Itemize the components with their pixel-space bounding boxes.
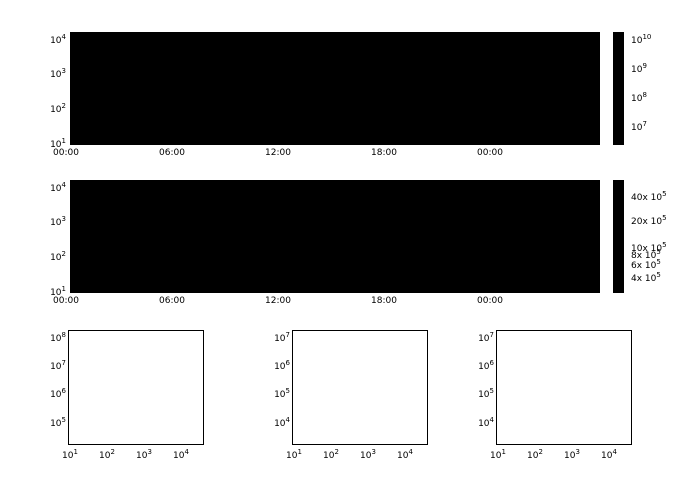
- s2-xtick-10e3: 103: [360, 448, 376, 461]
- top-xtick-0000a: 00:00: [53, 148, 79, 158]
- mid-xtick-0000b: 00:00: [477, 296, 503, 306]
- s3-xtick-10e4: 104: [601, 448, 617, 461]
- top-ytick-10e3: 103: [36, 67, 66, 80]
- s2-xtick-10e2: 102: [323, 448, 339, 461]
- spectrum-left-plot-area[interactable]: [68, 330, 204, 445]
- s1-xtick-10e4: 104: [173, 448, 189, 461]
- s2-ytick-10e7: 107: [260, 331, 290, 344]
- spectrum-right-plot-area[interactable]: [496, 330, 632, 445]
- mid-cbtick-6e5: 6x 105: [631, 258, 661, 271]
- mid-cbtick-4e5: 4x 105: [631, 271, 661, 284]
- s2-ytick-10e4: 104: [260, 416, 290, 429]
- s2-ytick-10e6: 106: [260, 359, 290, 372]
- s3-ytick-10e4: 104: [464, 416, 494, 429]
- spectrum-center-canvas[interactable]: [293, 331, 427, 444]
- mid-xtick-1200: 12:00: [265, 296, 291, 306]
- top-xtick-0000b: 00:00: [477, 148, 503, 158]
- s1-ytick-10e8: 108: [36, 331, 66, 344]
- top-ytick-10e2: 102: [36, 102, 66, 115]
- top-xtick-1200: 12:00: [265, 148, 291, 158]
- top-spectrogram-plot-area[interactable]: [70, 32, 600, 145]
- middle-colorbar: [613, 180, 624, 293]
- middle-spectrogram-canvas[interactable]: [71, 181, 599, 292]
- s3-xtick-10e2: 102: [527, 448, 543, 461]
- s3-xtick-10e1: 101: [490, 448, 506, 461]
- top-colorbar: [613, 32, 624, 145]
- mid-xtick-1800: 18:00: [371, 296, 397, 306]
- spectrum-right-canvas[interactable]: [497, 331, 631, 444]
- mid-cbtick-20e5: 20x 105: [631, 214, 667, 227]
- mid-ytick-10e3: 103: [36, 215, 66, 228]
- mid-xtick-0600: 06:00: [159, 296, 185, 306]
- top-ytick-10e4: 104: [36, 33, 66, 46]
- top-xtick-0600: 06:00: [159, 148, 185, 158]
- s3-ytick-10e6: 106: [464, 359, 494, 372]
- spectrum-center-plot-area[interactable]: [292, 330, 428, 445]
- top-cbtick-10e7: 107: [631, 120, 647, 133]
- spectrum-left-canvas[interactable]: [69, 331, 203, 444]
- s1-xtick-10e1: 101: [62, 448, 78, 461]
- s3-ytick-10e7: 107: [464, 331, 494, 344]
- s2-xtick-10e4: 104: [397, 448, 413, 461]
- top-cbtick-10e8: 108: [631, 91, 647, 104]
- s1-ytick-10e6: 106: [36, 387, 66, 400]
- mid-cbtick-40e5: 40x 105: [631, 190, 667, 203]
- mid-ytick-10e4: 104: [36, 181, 66, 194]
- mid-ytick-10e2: 102: [36, 250, 66, 263]
- middle-spectrogram-plot-area[interactable]: [70, 180, 600, 293]
- mid-xtick-0000a: 00:00: [53, 296, 79, 306]
- s1-xtick-10e2: 102: [99, 448, 115, 461]
- top-xtick-1800: 18:00: [371, 148, 397, 158]
- top-cbtick-10e9: 109: [631, 62, 647, 75]
- top-spectrogram-canvas[interactable]: [71, 33, 599, 144]
- s2-xtick-10e1: 101: [286, 448, 302, 461]
- s2-ytick-10e5: 105: [260, 387, 290, 400]
- s1-ytick-10e7: 107: [36, 359, 66, 372]
- s1-xtick-10e3: 103: [136, 448, 152, 461]
- s3-xtick-10e3: 103: [564, 448, 580, 461]
- top-cbtick-10e10: 1010: [631, 33, 651, 46]
- middle-colorbar-canvas: [614, 181, 623, 292]
- s1-ytick-10e5: 105: [36, 416, 66, 429]
- s3-ytick-10e5: 105: [464, 387, 494, 400]
- top-colorbar-canvas: [614, 33, 623, 144]
